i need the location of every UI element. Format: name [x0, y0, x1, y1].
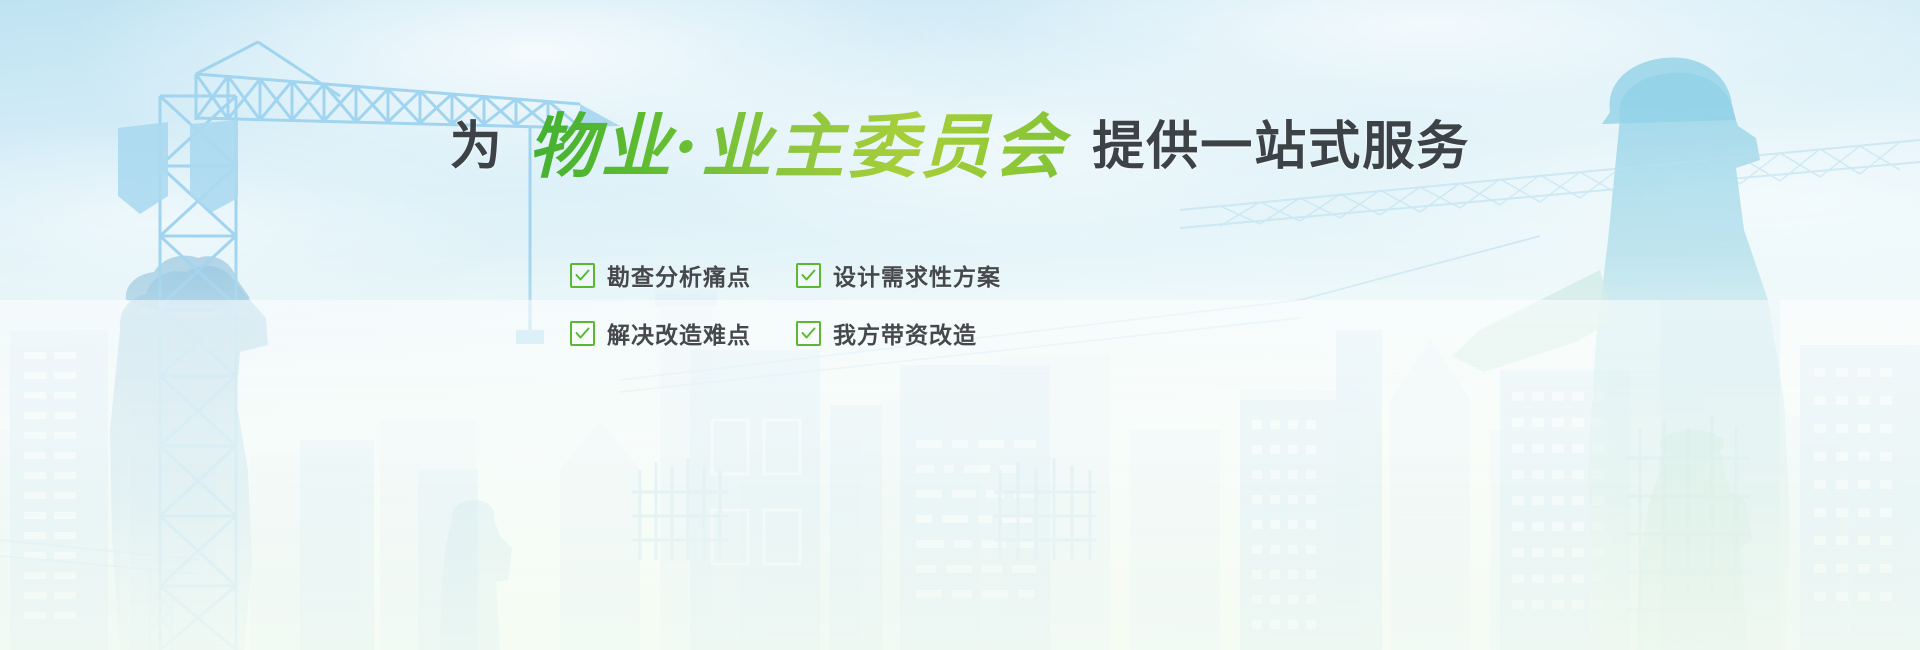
banner-content: 为物业·业主委员会提供一站式服务 勘查分析痛点	[0, 0, 1920, 650]
checklist-row: 解决改造难点 我方带资改造	[570, 316, 1090, 350]
checklist-item-design[interactable]: 设计需求性方案	[796, 258, 1001, 292]
headline: 为物业·业主委员会提供一站式服务	[0, 112, 1920, 182]
check-icon	[570, 321, 595, 346]
checklist-item-label: 勘查分析痛点	[607, 258, 751, 292]
promo-banner: 为物业·业主委员会提供一站式服务 勘查分析痛点	[0, 0, 1920, 650]
checklist-row: 勘查分析痛点 设计需求性方案	[570, 258, 1090, 292]
headline-emphasis: 物业·业主委员会	[518, 105, 1076, 188]
checklist-item-label: 解决改造难点	[607, 316, 751, 350]
headline-suffix: 提供一站式服务	[1076, 118, 1470, 176]
feature-checklist: 勘查分析痛点 设计需求性方案	[570, 258, 1090, 374]
checklist-item-label: 我方带资改造	[833, 316, 977, 350]
headline-prefix: 为	[450, 118, 518, 176]
check-icon	[570, 263, 595, 288]
checklist-item-renovation[interactable]: 解决改造难点	[570, 316, 796, 350]
checklist-item-label: 设计需求性方案	[833, 258, 1001, 292]
check-icon	[796, 321, 821, 346]
checklist-item-survey[interactable]: 勘查分析痛点	[570, 258, 796, 292]
checklist-item-funding[interactable]: 我方带资改造	[796, 316, 977, 350]
check-icon	[796, 263, 821, 288]
